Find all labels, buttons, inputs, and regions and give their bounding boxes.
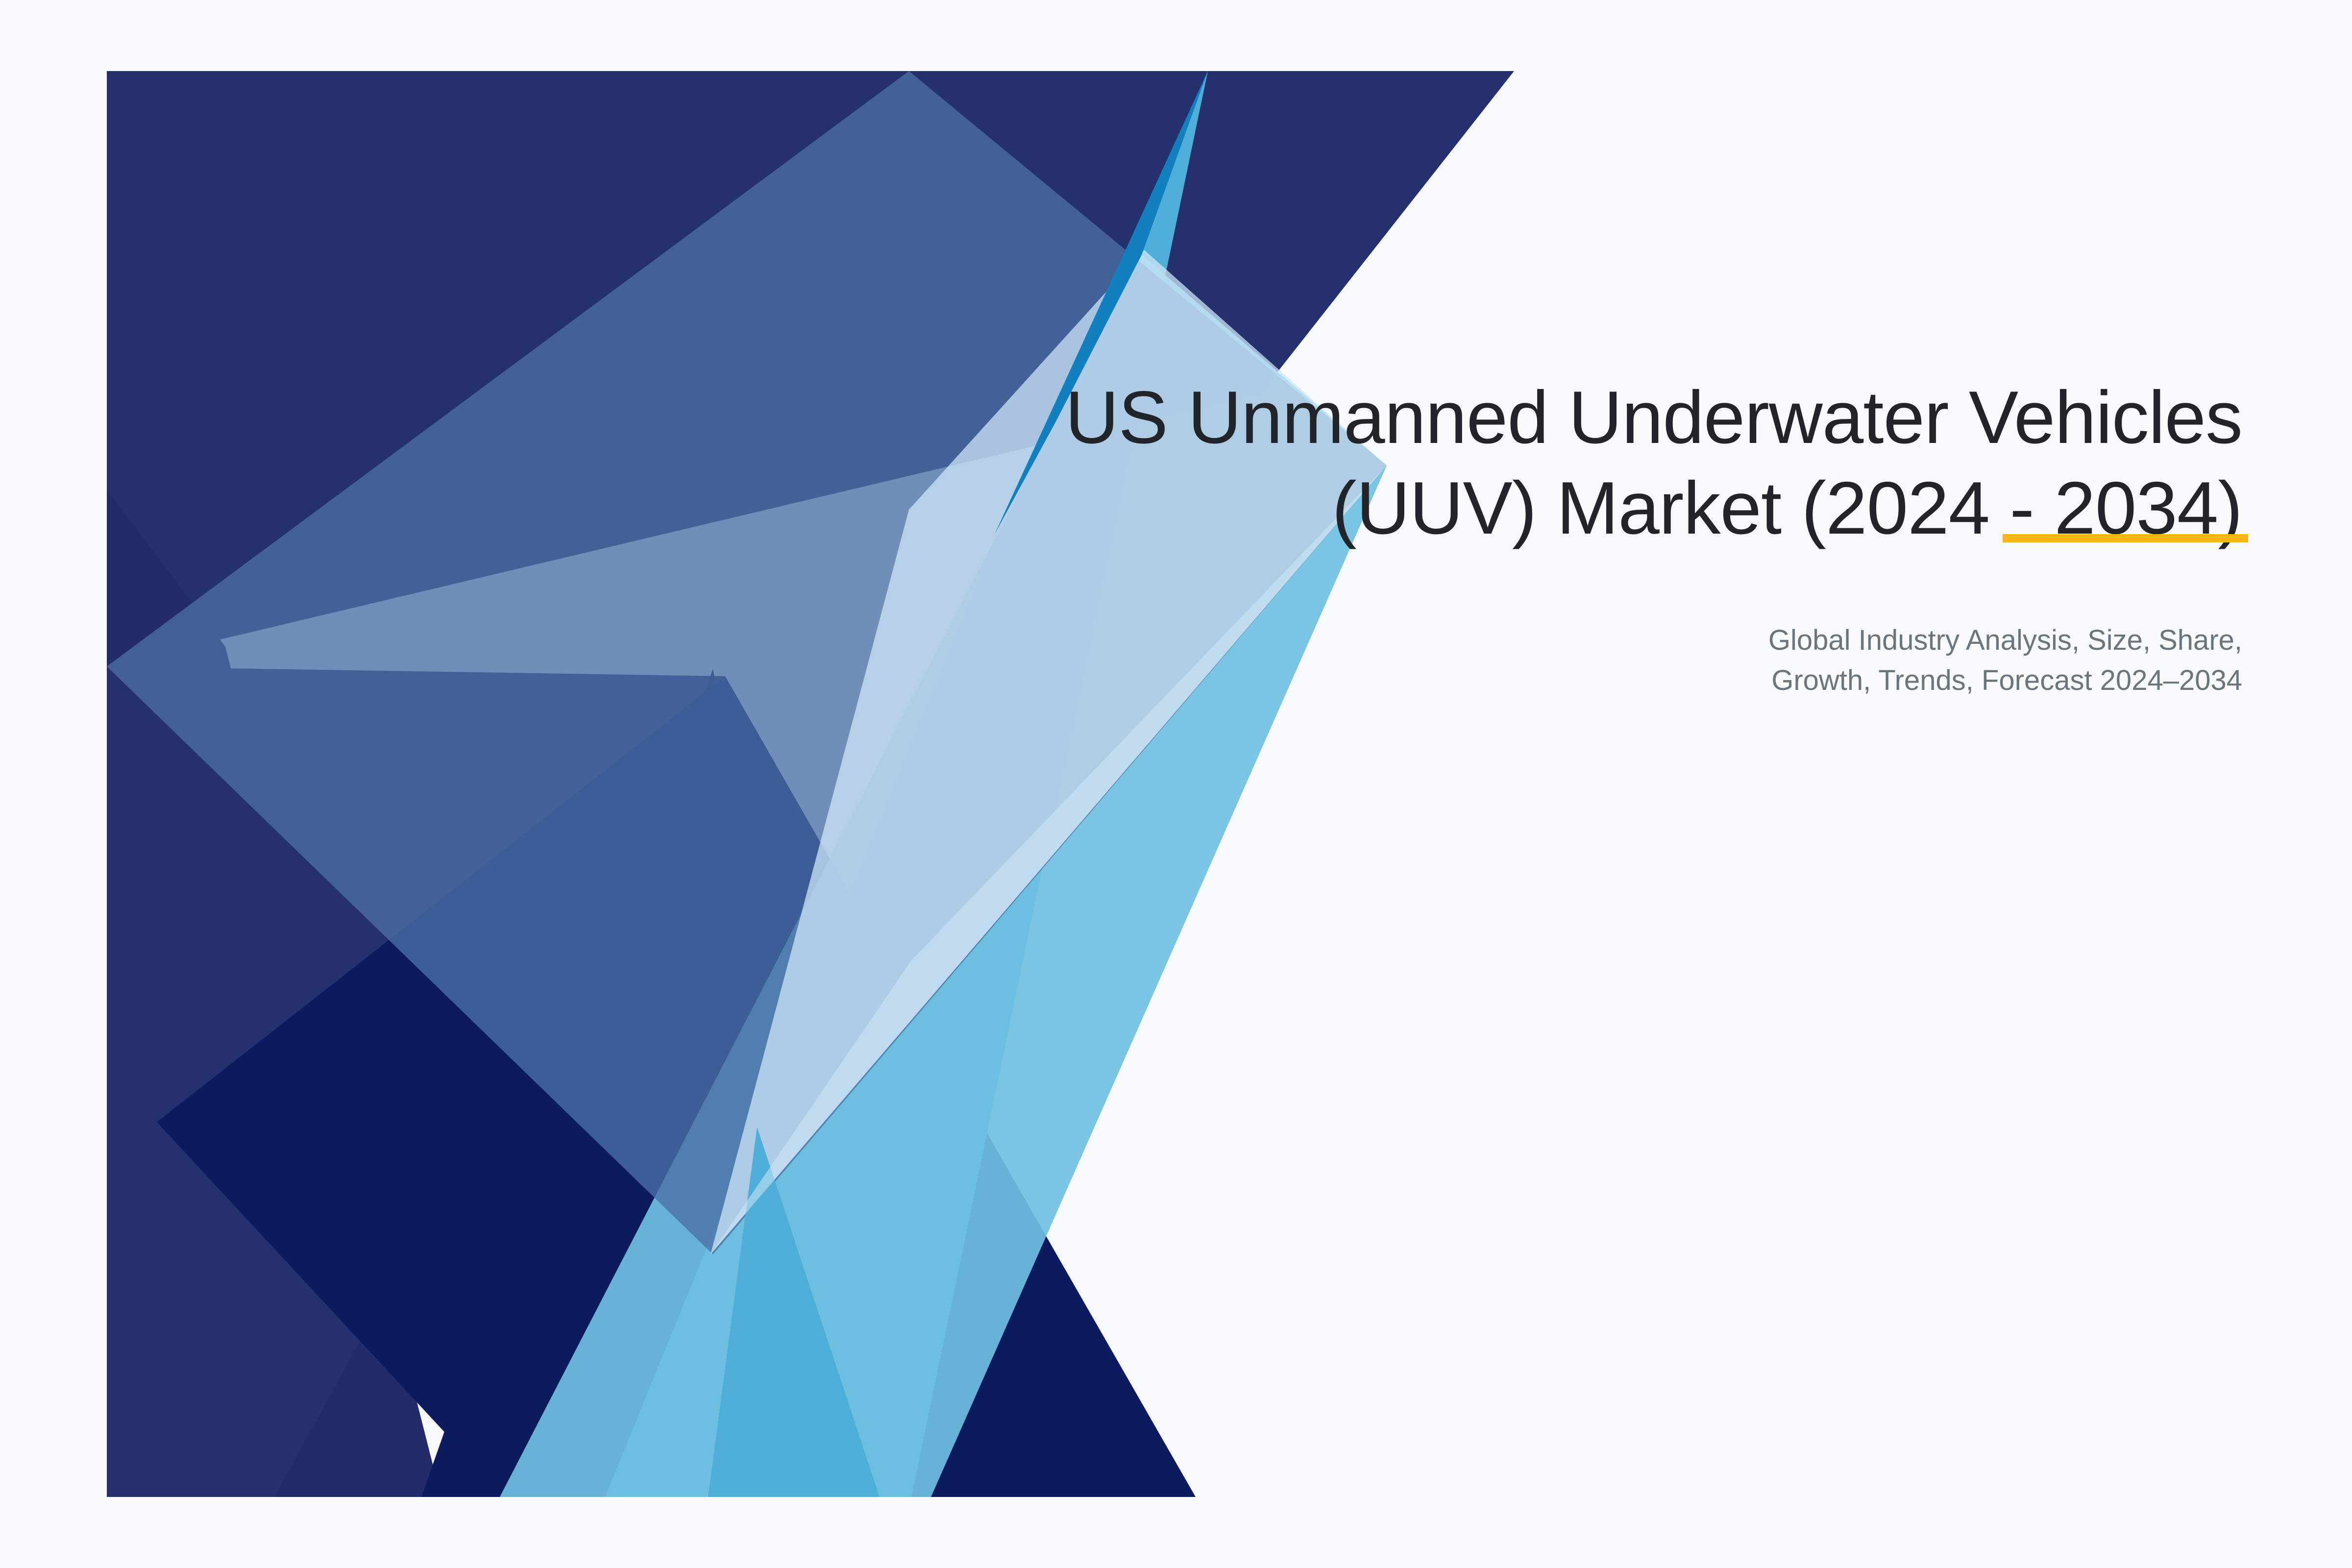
abstract-geometric-artwork	[0, 0, 2352, 1568]
title-wrapper: US Unmanned Underwater Vehicles (UUV) Ma…	[833, 372, 2242, 554]
title-accent-underline	[2003, 534, 2248, 542]
page-title: US Unmanned Underwater Vehicles (UUV) Ma…	[833, 372, 2242, 554]
page-subtitle: Global Industry Analysis, Size, Share, G…	[833, 554, 2242, 701]
cover-text-block: US Unmanned Underwater Vehicles (UUV) Ma…	[833, 372, 2242, 701]
cover-page: US Unmanned Underwater Vehicles (UUV) Ma…	[0, 0, 2352, 1568]
